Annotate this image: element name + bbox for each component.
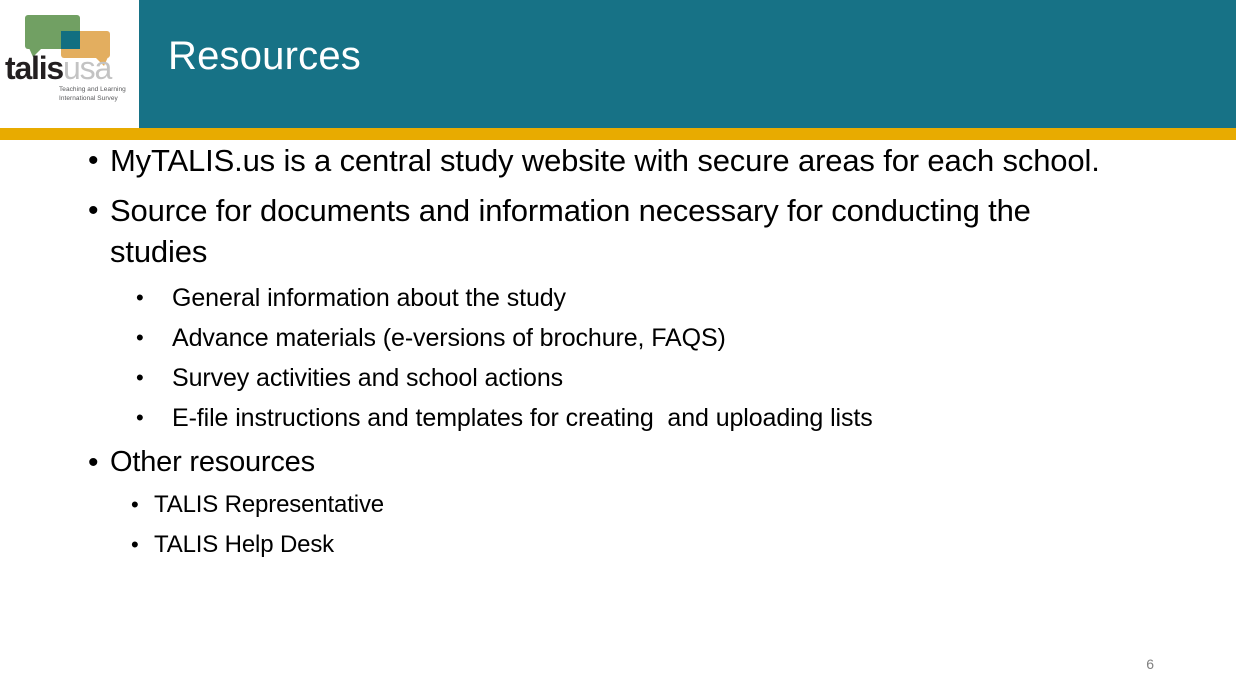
talis-usa-logo: talisusa Teaching and Learning Internati…: [0, 0, 139, 128]
gold-accent-band: [0, 128, 1236, 140]
list-item: • Survey activities and school actions: [136, 358, 1136, 398]
bullet-icon: •: [136, 278, 172, 318]
logo-tagline: Teaching and Learning International Surv…: [59, 86, 139, 103]
logo-wordmark: talisusa: [5, 52, 137, 84]
bullet-icon: •: [88, 190, 110, 231]
list-item-label: Survey activities and school actions: [172, 358, 1136, 398]
bullet-icon: •: [136, 318, 172, 358]
list-item: • MyTALIS.us is a central study website …: [88, 140, 1136, 181]
bullet-icon: •: [131, 525, 154, 565]
bullet-icon: •: [136, 358, 172, 398]
list-item-label: E-file instructions and templates for cr…: [172, 398, 1136, 438]
page-title: Resources: [168, 34, 361, 78]
bullet-icon: •: [131, 485, 154, 525]
list-item: • Other resources: [88, 442, 1136, 483]
list-item-label: Source for documents and information nec…: [110, 190, 1136, 272]
list-item-label: General information about the study: [172, 278, 1136, 318]
slide-body: • MyTALIS.us is a central study website …: [0, 140, 1236, 640]
list-item: • TALIS Representative: [131, 485, 1136, 525]
logo-wordmark-primary: talis: [5, 50, 63, 86]
list-item-label: Advance materials (e-versions of brochur…: [172, 318, 1136, 358]
list-item: • Advance materials (e-versions of broch…: [136, 318, 1136, 358]
list-item: • E-file instructions and templates for …: [136, 398, 1136, 438]
spacer: [0, 183, 1236, 190]
slide: talisusa Teaching and Learning Internati…: [0, 0, 1236, 692]
logo-tagline-line-1: Teaching and Learning: [59, 86, 139, 95]
bullet-icon: •: [136, 398, 172, 438]
list-item-label: MyTALIS.us is a central study website wi…: [110, 140, 1136, 181]
list-item: • TALIS Help Desk: [131, 525, 1136, 565]
bullet-icon: •: [88, 140, 110, 181]
list-item-label: TALIS Help Desk: [154, 525, 1136, 565]
list-item-label: Other resources: [110, 442, 1136, 483]
bullet-icon: •: [88, 442, 110, 483]
list-item: • Source for documents and information n…: [88, 190, 1136, 272]
list-item: • General information about the study: [136, 278, 1136, 318]
page-number: 6: [1146, 656, 1154, 672]
logo-wordmark-secondary: usa: [63, 50, 111, 86]
list-item-label: TALIS Representative: [154, 485, 1136, 525]
logo-tagline-line-2: International Survey: [59, 95, 139, 104]
speech-bubble-overlap-icon: [61, 31, 80, 49]
